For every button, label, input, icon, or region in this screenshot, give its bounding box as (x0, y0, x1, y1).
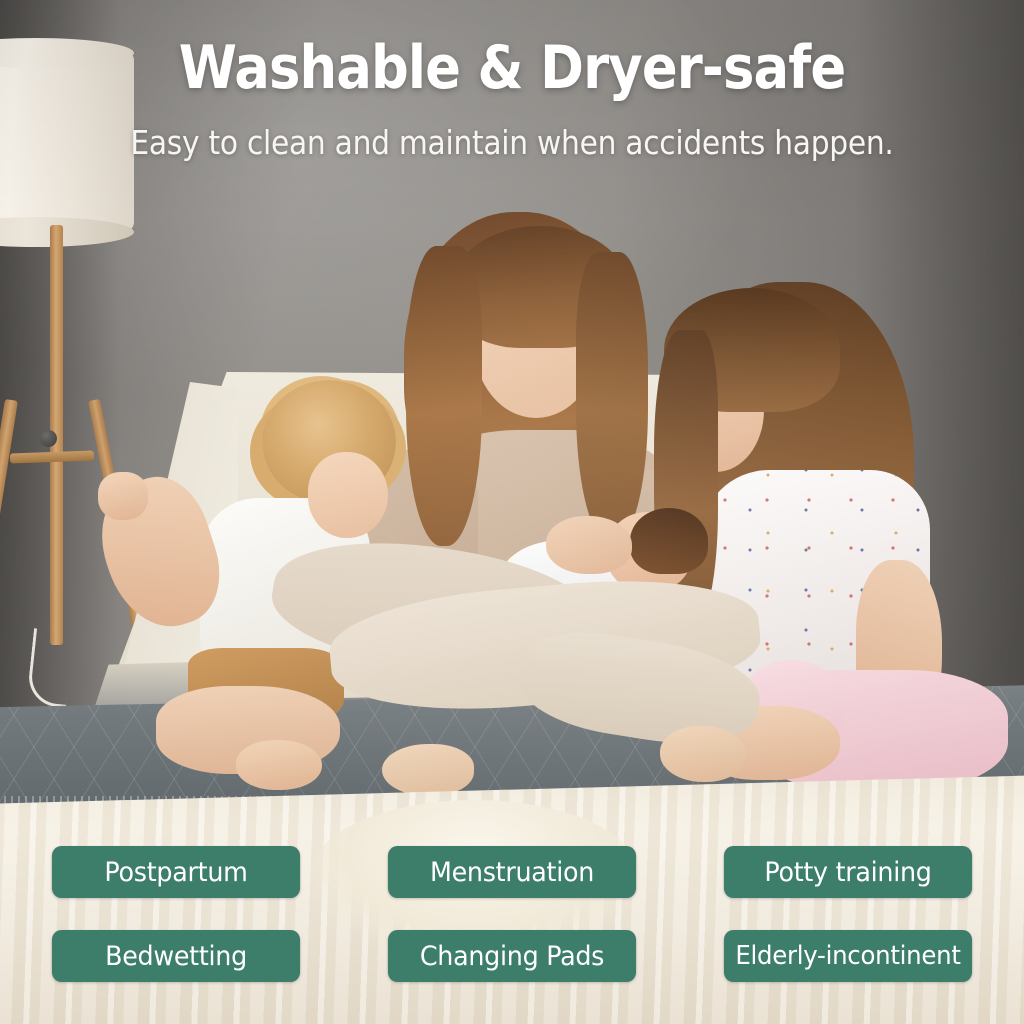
badge-menstruation[interactable]: Menstruation (388, 846, 636, 898)
mother-hair-left-strand (406, 246, 482, 546)
badge-changing-pads[interactable]: Changing Pads (388, 930, 636, 982)
badge-potty-training[interactable]: Potty training (724, 846, 972, 898)
badge-bedwetting[interactable]: Bedwetting (52, 930, 300, 982)
mother-hand (546, 516, 632, 574)
badge-elderly-incontinent[interactable]: Elderly-incontinent (724, 930, 972, 982)
lamp-switch-knob (40, 430, 57, 447)
newborn-hair (630, 508, 708, 574)
mother-foot-left (382, 744, 474, 796)
mother-foot-right (660, 726, 746, 782)
mother-hair-right-strand (576, 252, 648, 542)
toddler-fist (98, 472, 148, 520)
product-feature-image: Washable & Dryer-safe Easy to clean and … (0, 0, 1024, 1024)
page-subtitle: Easy to clean and maintain when accident… (51, 125, 973, 161)
badge-postpartum[interactable]: Postpartum (52, 846, 300, 898)
use-case-badge-grid: Postpartum Menstruation Potty training B… (44, 846, 980, 982)
toddler-foot (236, 740, 322, 790)
page-title: Washable & Dryer-safe (61, 38, 962, 99)
toddler-face (308, 452, 388, 538)
